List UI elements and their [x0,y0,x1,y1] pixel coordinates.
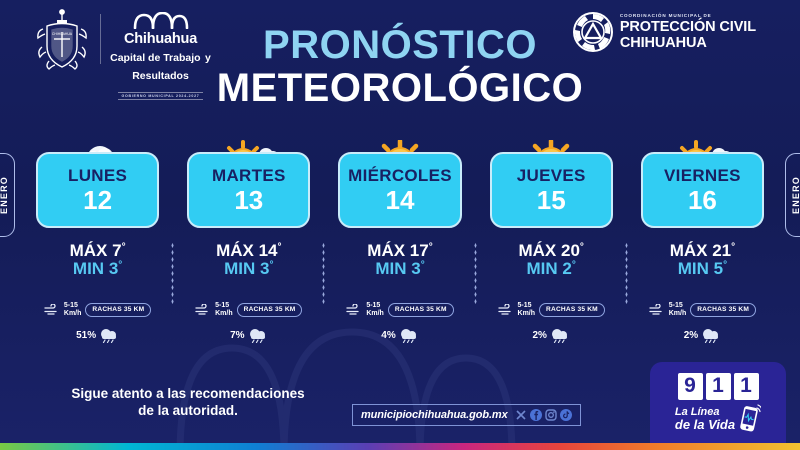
month-tab-right: ENERO [785,153,800,237]
min-label: MIN [224,259,255,278]
max-temperature: MÁX 14° [173,242,324,260]
wind-speed-unit: Km/h [366,310,384,318]
wind-gust-badge: RACHAS 35 KM [237,303,303,317]
wind-speed-unit: Km/h [64,310,82,318]
min-label: MIN [375,259,406,278]
rain-cloud-icon [248,328,268,343]
rain-block: 51% [22,328,173,343]
min-value: 3 [411,259,420,278]
max-temperature: MÁX 20° [476,242,627,260]
website-url[interactable]: municipiochihuahua.gob.mx [361,409,508,421]
max-temperature: MÁX 21° [627,242,778,260]
social-links[interactable] [515,409,572,421]
min-temperature: MIN 5° [627,260,778,278]
rain-cloud-icon [701,328,721,343]
min-label: MIN [678,259,709,278]
max-temperature: MÁX 17° [324,242,475,260]
page-title: PRONÓSTICO METEOROLÓGICO [0,26,800,108]
rain-block: 4% [324,328,475,343]
emergency-digit: 1 [706,373,731,400]
wind-block: 5-15 Km/h RACHAS 35 KM [324,302,475,317]
wind-block: 5-15 Km/h RACHAS 35 KM [173,302,324,317]
wind-speed-unit: Km/h [518,310,536,318]
wind-speed-value: 5-15 [366,302,384,310]
max-label: MÁX [670,241,708,260]
tagline-line-2: de la Vida [675,418,735,431]
max-value: 21 [712,241,731,260]
instagram-icon[interactable] [545,409,557,421]
min-temperature: MIN 3° [324,260,475,278]
rain-cloud-icon [99,328,119,343]
min-label: MIN [73,259,104,278]
min-temperature: MIN 2° [476,260,627,278]
min-degree: ° [118,259,122,270]
wind-icon [649,304,665,315]
max-label: MÁX [518,241,556,260]
day-card[interactable]: MARTES 13 [187,152,310,228]
wind-block: 5-15 Km/h RACHAS 35 KM [627,302,778,317]
max-label: MÁX [70,241,108,260]
wind-speed: 5-15 Km/h [64,302,82,317]
wind-gust-badge: RACHAS 35 KM [85,303,151,317]
day-name: LUNES [68,167,127,184]
weather-forecast-poster: CHIHUAHUA Chihuahua Capital de Trabajo y… [0,0,800,450]
rain-probability: 2% [684,330,698,341]
temperature-block: MÁX 20° MIN 2° [476,242,627,277]
max-value: 17 [410,241,429,260]
wind-gust-badge: RACHAS 35 KM [388,303,454,317]
day-card[interactable]: VIERNES 16 [641,152,764,228]
max-label: MÁX [216,241,254,260]
day-name: VIERNES [664,167,741,184]
rain-block: 2% [476,328,627,343]
rain-probability: 51% [76,330,96,341]
min-label: MIN [527,259,558,278]
max-degree: ° [122,241,126,252]
day-card[interactable]: JUEVES 15 [490,152,613,228]
phone-heartbeat-icon [739,404,761,434]
max-value: 7 [112,241,121,260]
wind-gust-badge: RACHAS 35 KM [690,303,756,317]
day-date: 12 [83,187,112,213]
min-value: 3 [109,259,118,278]
month-tab-right-label: ENERO [791,176,800,214]
wind-icon [44,304,60,315]
wind-speed: 5-15 Km/h [366,302,384,317]
min-degree: ° [723,259,727,270]
website-url-box[interactable]: municipiochihuahua.gob.mx [352,404,581,426]
rain-cloud-icon [399,328,419,343]
day-card[interactable]: LUNES 12 [36,152,159,228]
tiktok-icon[interactable] [560,409,572,421]
temperature-block: MÁX 14° MIN 3° [173,242,324,277]
rain-block: 7% [173,328,324,343]
rain-probability: 2% [532,330,546,341]
wind-block: 5-15 Km/h RACHAS 35 KM [476,302,627,317]
wind-speed: 5-15 Km/h [215,302,233,317]
max-value: 20 [561,241,580,260]
rain-block: 2% [627,328,778,343]
day-date: 15 [537,187,566,213]
max-degree: ° [731,241,735,252]
day-name: MARTES [212,167,286,184]
rain-probability: 4% [381,330,395,341]
max-value: 14 [259,241,278,260]
day-date: 16 [688,187,717,213]
min-degree: ° [572,259,576,270]
day-name: JUEVES [517,167,586,184]
x-icon[interactable] [515,409,527,421]
message-line-2: de la autoridad. [38,403,338,420]
day-date: 13 [234,187,263,213]
pc-superline: COORDINACIÓN MUNICIPAL DE [620,14,756,19]
rain-cloud-icon [550,328,570,343]
title-line-2: METEOROLÓGICO [0,69,800,108]
max-degree: ° [580,241,584,252]
title-line-1: PRONÓSTICO [0,26,800,65]
emergency-digit: 1 [734,373,759,400]
min-value: 2 [562,259,571,278]
max-label: MÁX [367,241,405,260]
month-tab-left: ENERO [0,153,15,237]
day-name: MIÉRCOLES [348,167,452,184]
wind-speed-value: 5-15 [518,302,536,310]
min-value: 5 [714,259,723,278]
month-tab-left-label: ENERO [0,176,9,214]
max-degree: ° [278,241,282,252]
min-temperature: MIN 3° [173,260,324,278]
max-temperature: MÁX 7° [22,242,173,260]
recommendation-message: Sigue atento a las recomendaciones de la… [38,386,338,420]
wind-icon [195,304,211,315]
wind-speed-value: 5-15 [669,302,687,310]
min-degree: ° [421,259,425,270]
temperature-block: MÁX 21° MIN 5° [627,242,778,277]
wind-speed: 5-15 Km/h [669,302,687,317]
tagline-line-1: La Línea [675,407,735,418]
day-card[interactable]: MIÉRCOLES 14 [338,152,461,228]
wind-icon [346,304,362,315]
emergency-digit: 9 [678,373,703,400]
min-temperature: MIN 3° [22,260,173,278]
temperature-block: MÁX 7° MIN 3° [22,242,173,277]
wind-block: 5-15 Km/h RACHAS 35 KM [22,302,173,317]
emergency-digits: 9 1 1 [678,373,759,400]
bottom-color-strip [0,443,800,450]
min-degree: ° [269,259,273,270]
facebook-icon[interactable] [530,409,542,421]
emergency-tagline: La Línea de la Vida [675,404,761,434]
wind-gust-badge: RACHAS 35 KM [539,303,605,317]
message-line-1: Sigue atento a las recomendaciones [38,386,338,403]
day-date: 14 [386,187,415,213]
wind-icon [498,304,514,315]
wind-speed-value: 5-15 [64,302,82,310]
emergency-911-logo[interactable]: 9 1 1 La Línea de la Vida [650,362,786,444]
max-degree: ° [429,241,433,252]
rain-probability: 7% [230,330,244,341]
wind-speed-value: 5-15 [215,302,233,310]
temperature-block: MÁX 17° MIN 3° [324,242,475,277]
wind-speed: 5-15 Km/h [518,302,536,317]
wind-speed-unit: Km/h [215,310,233,318]
wind-speed-unit: Km/h [669,310,687,318]
